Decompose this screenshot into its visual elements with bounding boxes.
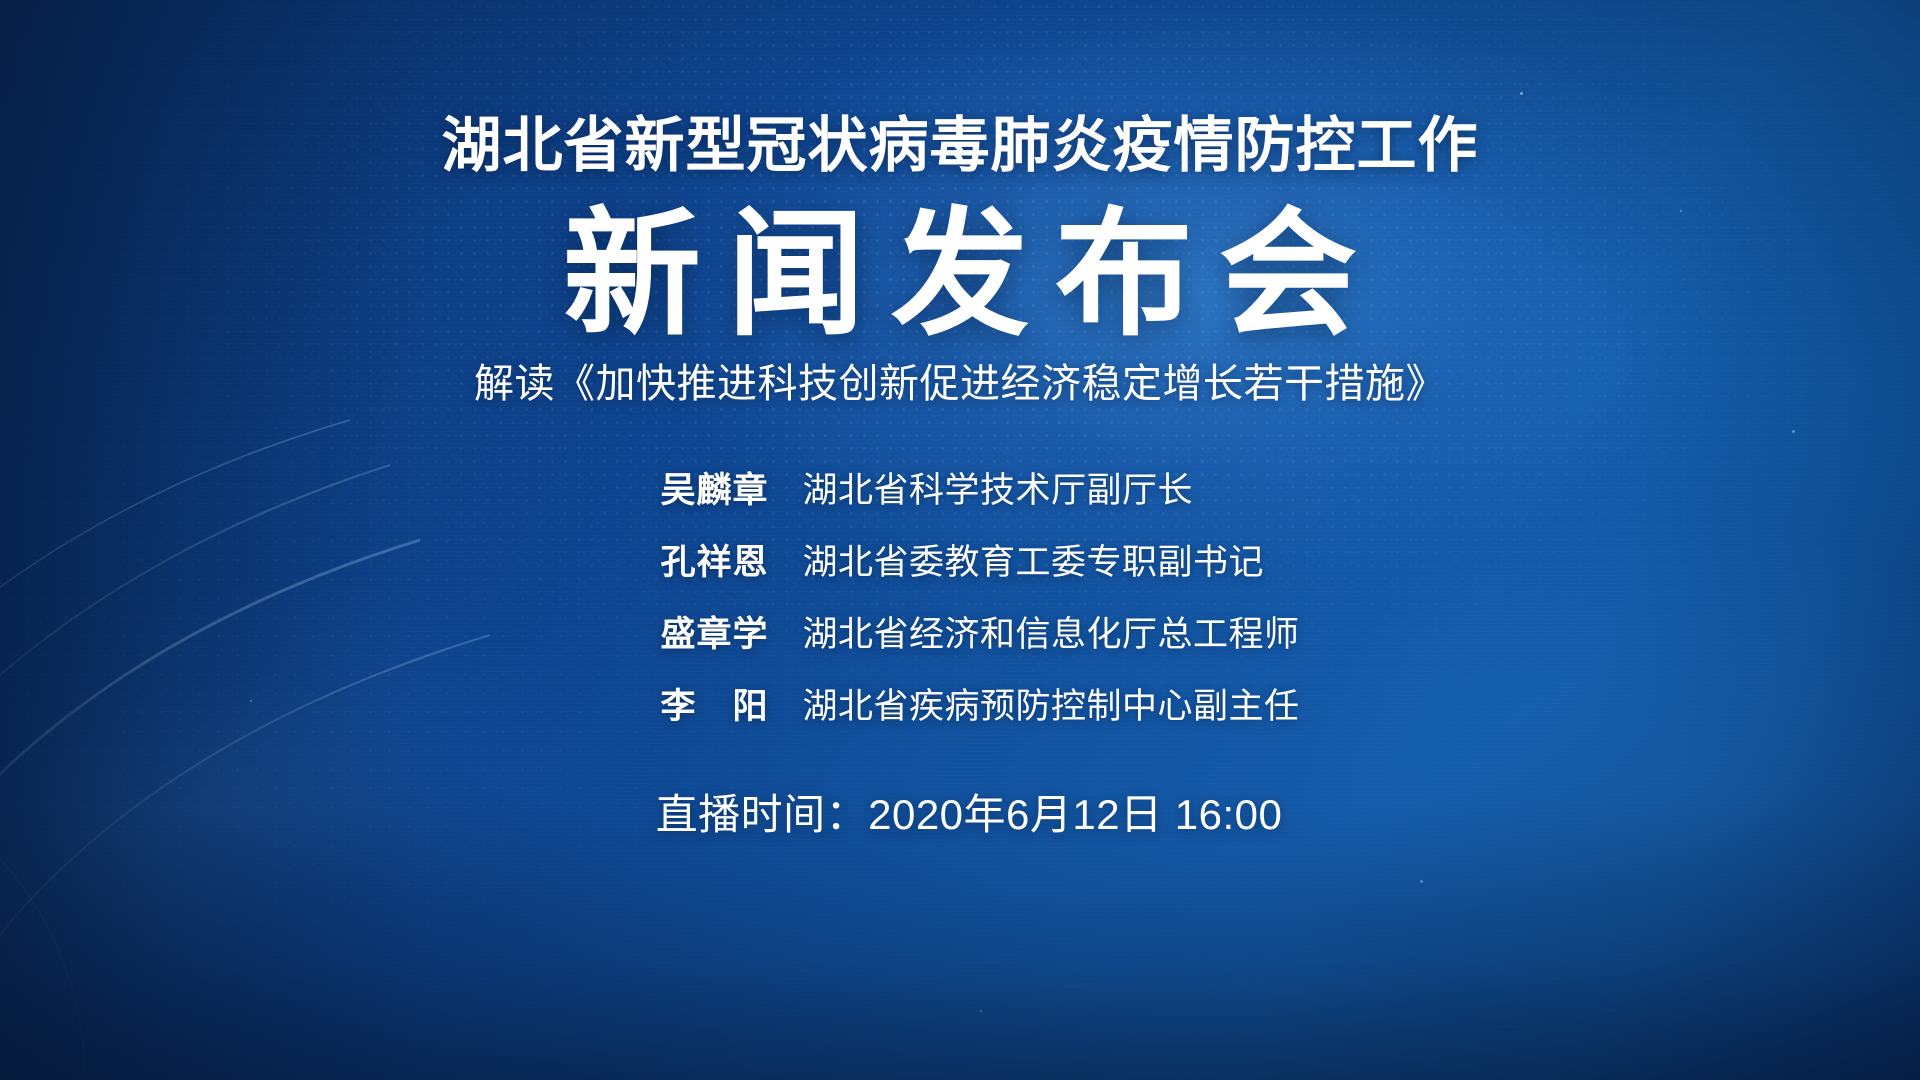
speaker-row: 孔祥恩 湖北省委教育工委专职副书记 bbox=[620, 534, 1299, 585]
broadcast-title-card: 湖北省新型冠状病毒肺炎疫情防控工作 新闻发布会 解读《加快推进科技创新促进经济稳… bbox=[0, 0, 1920, 1080]
speaker-row: 盛章学 湖北省经济和信息化厅总工程师 bbox=[620, 606, 1299, 657]
event-kicker-line: 湖北省新型冠状病毒肺炎疫情防控工作 bbox=[442, 116, 1479, 176]
speaker-list: 吴麟章 湖北省科学技术厅副厅长 孔祥恩 湖北省委教育工委专职副书记 盛章学 湖北… bbox=[620, 462, 1299, 729]
speaker-title: 湖北省疾病预防控制中心副主任 bbox=[802, 678, 1299, 729]
speaker-name: 孔祥恩 bbox=[620, 534, 768, 585]
title-card-content: 湖北省新型冠状病毒肺炎疫情防控工作 新闻发布会 解读《加快推进科技创新促进经济稳… bbox=[0, 0, 1920, 1080]
speaker-row: 李 阳 湖北省疾病预防控制中心副主任 bbox=[620, 678, 1299, 729]
page-title: 新闻发布会 bbox=[537, 202, 1383, 348]
speaker-name: 李 阳 bbox=[620, 678, 768, 729]
speaker-title: 湖北省科学技术厅副厅长 bbox=[802, 462, 1193, 513]
speaker-name: 吴麟章 bbox=[620, 462, 768, 513]
speaker-title: 湖北省委教育工委专职副书记 bbox=[802, 534, 1264, 585]
event-subtitle: 解读《加快推进科技创新促进经济稳定增长若干措施》 bbox=[474, 364, 1446, 404]
speaker-title: 湖北省经济和信息化厅总工程师 bbox=[802, 606, 1299, 657]
speaker-name: 盛章学 bbox=[620, 606, 768, 657]
broadcast-time: 直播时间：2020年6月12日 16:00 bbox=[656, 781, 1283, 842]
speaker-row: 吴麟章 湖北省科学技术厅副厅长 bbox=[620, 462, 1299, 513]
